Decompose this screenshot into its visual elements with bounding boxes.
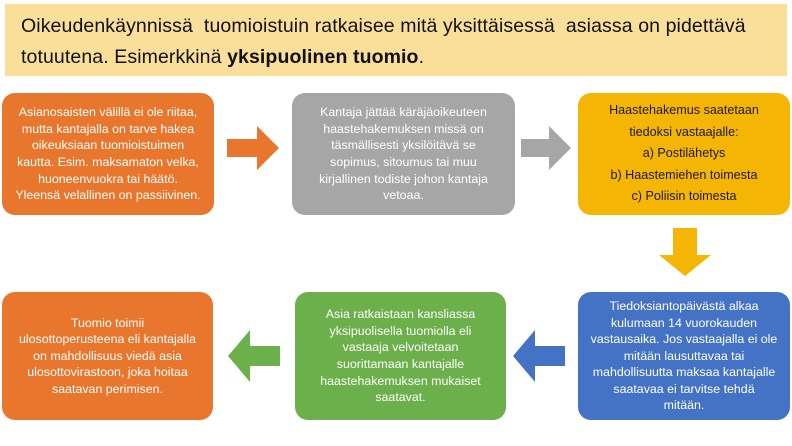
diagram-canvas: Oikeudenkäynnissä tuomioistuin ratkaisee… bbox=[0, 0, 792, 446]
flow-step-3-text: Haastehakemus saatetaan tiedoksi vastaaj… bbox=[609, 100, 759, 208]
flow-step-2-text: Kantaja jättää käräjäoikeuteen haastehak… bbox=[319, 104, 488, 204]
header-line-2-emphasis: yksipuolinen tuomio bbox=[227, 46, 419, 68]
flow-step-6-text: Tuomio toimii ulosottoperusteena eli kan… bbox=[19, 315, 196, 398]
flow-step-4-box[interactable]: Tiedoksiantopäivästä alkaa kulumaan 14 v… bbox=[578, 292, 790, 420]
header-line-1: Oikeudenkäynnissä tuomioistuin ratkaisee… bbox=[21, 15, 746, 37]
arrow-down-step3-to-step4 bbox=[659, 228, 711, 276]
flow-step-5-text: Asia ratkaistaan kansliassa yksipuolisel… bbox=[320, 306, 480, 406]
flow-step-2-box[interactable]: Kantaja jättää käräjäoikeuteen haastehak… bbox=[292, 93, 515, 215]
arrow-right-step2-to-step3 bbox=[521, 126, 571, 170]
arrow-left-step5-to-step6 bbox=[228, 330, 280, 382]
header-line-2-prefix: totuutena. Esimerkkinä bbox=[21, 46, 227, 68]
header-banner-text: Oikeudenkäynnissä tuomioistuin ratkaisee… bbox=[21, 11, 773, 73]
header-line-2-suffix: . bbox=[419, 46, 425, 68]
flow-step-5-box[interactable]: Asia ratkaistaan kansliassa yksipuolisel… bbox=[295, 292, 506, 420]
flow-step-6-box[interactable]: Tuomio toimii ulosottoperusteena eli kan… bbox=[2, 292, 213, 420]
header-banner: Oikeudenkäynnissä tuomioistuin ratkaisee… bbox=[5, 4, 787, 76]
flow-step-3-box[interactable]: Haastehakemus saatetaan tiedoksi vastaaj… bbox=[578, 93, 790, 215]
arrow-right-step1-to-step2 bbox=[227, 126, 279, 170]
flow-step-1-box[interactable]: Asianosaisten välillä ei ole riitaa, mut… bbox=[2, 93, 214, 215]
flow-step-4-text: Tiedoksiantopäivästä alkaa kulumaan 14 v… bbox=[591, 298, 778, 414]
flow-step-1-text: Asianosaisten välillä ei ole riitaa, mut… bbox=[15, 104, 200, 204]
arrow-left-step4-to-step5 bbox=[513, 330, 565, 382]
